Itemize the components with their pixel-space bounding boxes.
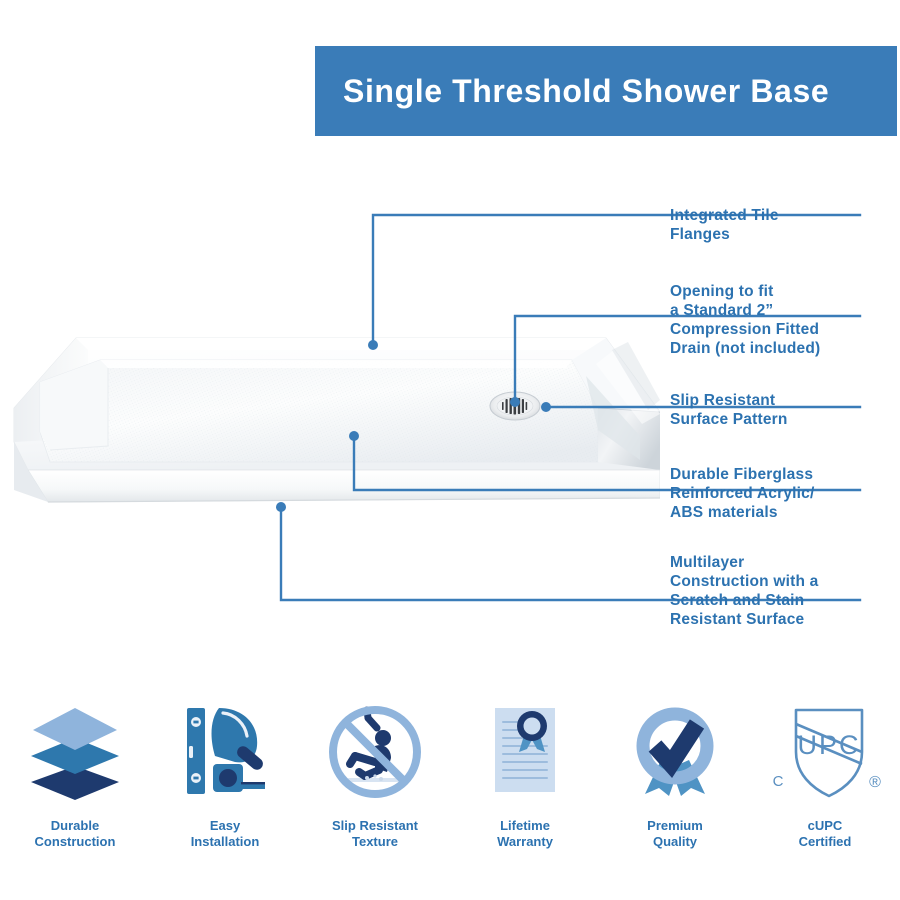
feature-label: Premium Quality [647, 818, 703, 850]
callout-label-drain-opening: Opening to fit a Standard 2” Compression… [670, 282, 820, 358]
callout-label-integrated-tile-flanges: Integrated Tile Flanges [670, 206, 779, 244]
callout-label-durable-materials: Durable Fiberglass Reinforced Acrylic/ A… [670, 465, 815, 522]
upc-shield-icon: UPC C ® [768, 698, 882, 806]
layers-icon [23, 698, 127, 806]
leader-dot-4 [276, 502, 286, 512]
feature-premium-quality: Premium Quality [600, 698, 750, 868]
leader-dot-2 [541, 402, 551, 412]
registered-mark: ® [869, 774, 881, 791]
feature-badges-row: Durable Construction [0, 698, 900, 868]
feature-label: cUPC Certified [799, 818, 852, 850]
infographic-canvas: Single Threshold Shower Base [0, 0, 900, 900]
leader-dot-0 [368, 340, 378, 350]
feature-label: Easy Installation [191, 818, 260, 850]
feature-label: Slip Resistant Texture [332, 818, 418, 850]
upc-prefix-c: C [773, 773, 784, 790]
feature-cupc-certified: UPC C ® cUPC Certified [750, 698, 900, 868]
leader-dot-3 [349, 431, 359, 441]
feature-slip-resistant: Slip Resistant Texture [300, 698, 450, 868]
trowel-level-icon [173, 698, 277, 806]
certificate-icon [473, 698, 577, 806]
callout-label-slip-resistant-surface: Slip Resistant Surface Pattern [670, 391, 788, 429]
check-rosette-icon [623, 698, 727, 806]
upc-shield-text: UPC [797, 730, 860, 760]
feature-label: Durable Construction [35, 818, 116, 850]
callout-label-multilayer-construction: Multilayer Construction with a Scratch a… [670, 553, 818, 629]
no-slip-icon [323, 698, 427, 806]
feature-label: Lifetime Warranty [497, 818, 553, 850]
leader-dot-1 [510, 397, 520, 407]
feature-easy-installation: Easy Installation [150, 698, 300, 868]
feature-lifetime-warranty: Lifetime Warranty [450, 698, 600, 868]
feature-durable-construction: Durable Construction [0, 698, 150, 868]
